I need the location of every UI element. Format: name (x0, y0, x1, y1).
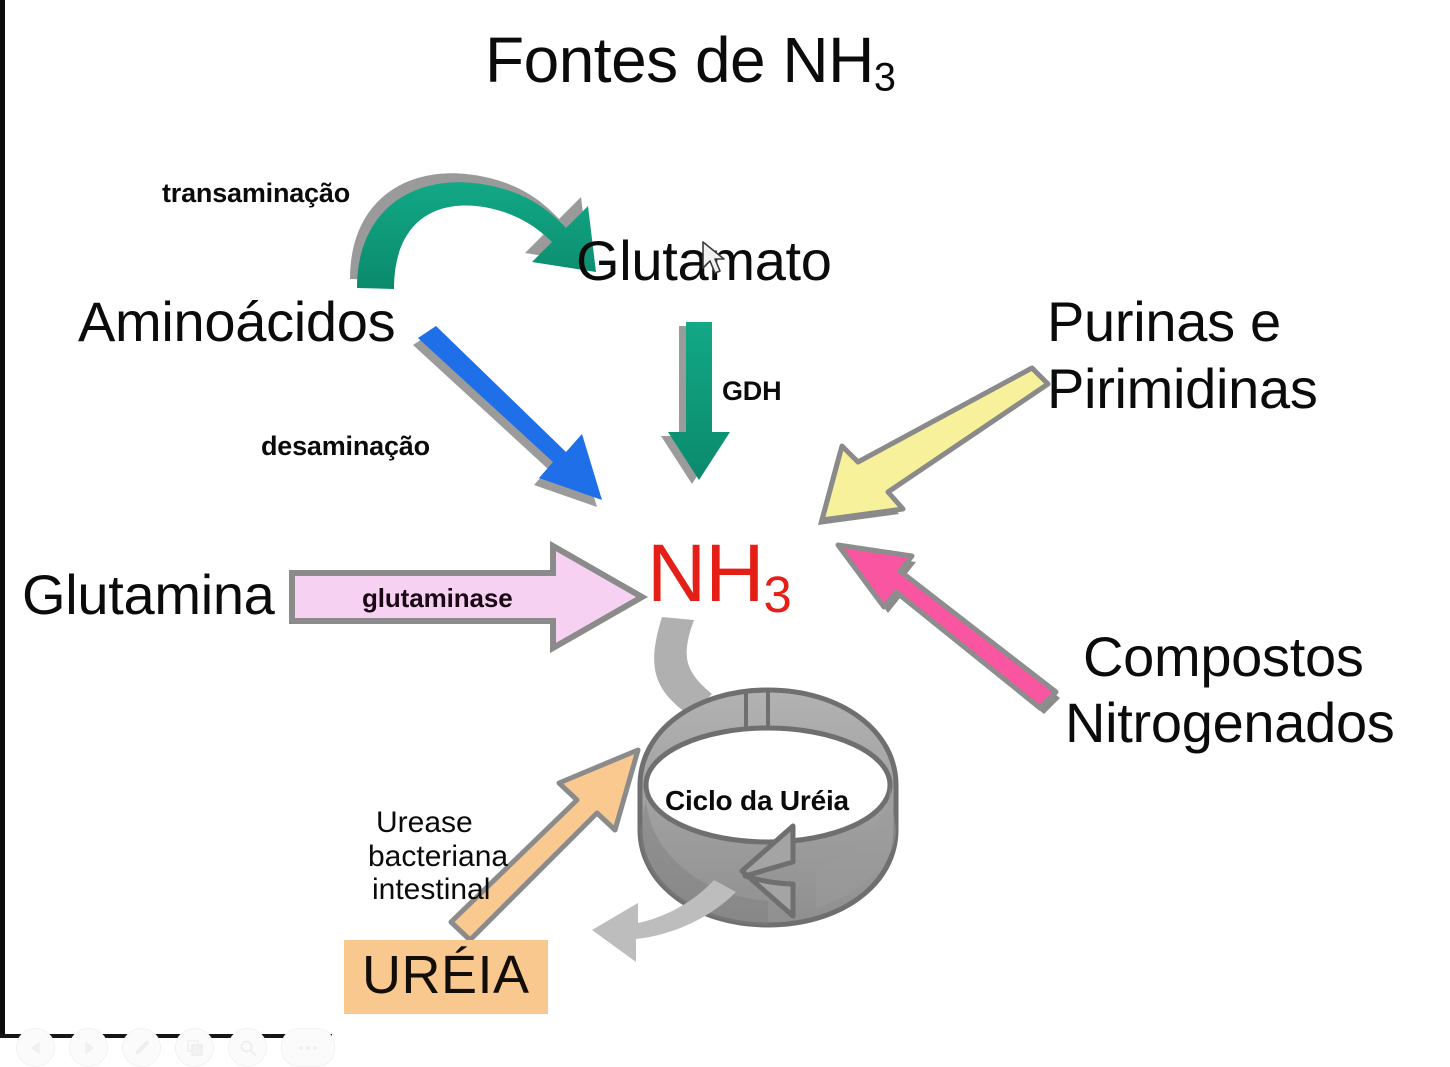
label-purinas: Purinas e (1047, 293, 1281, 350)
next-slide-button[interactable] (69, 1028, 108, 1067)
label-urease-line2: bacteriana (368, 840, 508, 874)
compostos-nitrogenados-arrow (838, 545, 1060, 714)
zoom-tool-button[interactable] (228, 1028, 267, 1067)
label-ciclo-da-ureia: Ciclo da Uréia (665, 785, 849, 817)
nh3-molecule: NH3 (647, 527, 791, 624)
slide-toolbar[interactable] (16, 1028, 335, 1067)
ureia-node: URÉIA (344, 940, 548, 1014)
slide-thumbnails-button[interactable] (175, 1028, 214, 1067)
transaminacao-arrow (350, 173, 596, 289)
frame-border-left (0, 0, 5, 1038)
ellipsis-icon (295, 1043, 321, 1053)
label-urease-line1: Urease (376, 806, 473, 840)
label-pirimidinas: Pirimidinas (1047, 360, 1318, 417)
triangle-left-icon (28, 1040, 44, 1056)
previous-slide-button[interactable] (16, 1028, 55, 1067)
page-title: Fontes de NH3 (485, 28, 895, 98)
purinas-pirimidinas-arrow (818, 368, 1048, 525)
more-options-button[interactable] (281, 1028, 335, 1067)
triangle-right-icon (81, 1040, 97, 1056)
label-urease-line3: intestinal (372, 873, 490, 907)
gdh-arrow (661, 322, 730, 484)
label-gdh: GDH (722, 378, 781, 406)
pen-icon (132, 1038, 152, 1058)
magnifier-icon (238, 1038, 258, 1058)
label-glutamina: Glutamina (22, 566, 275, 623)
desaminacao-arrow (413, 326, 602, 507)
presentation-slide: Fontes de NH3 transaminação Aminoácidos … (0, 0, 1450, 1067)
label-transaminacao: transaminação (162, 180, 350, 208)
label-compostos: Compostos (1083, 628, 1364, 685)
grid-icon (185, 1038, 205, 1058)
cycle-exit-arrow (592, 880, 736, 962)
pen-tool-button[interactable] (122, 1028, 161, 1067)
label-nitrogenados: Nitrogenados (1065, 694, 1395, 751)
label-glutaminase: glutaminase (362, 583, 513, 614)
nh3-to-cycle-connector (654, 617, 712, 716)
label-desaminacao: desaminação (261, 433, 430, 461)
label-glutamato: Glutamato (576, 232, 832, 289)
label-aminoacidos: Aminoácidos (78, 293, 395, 350)
